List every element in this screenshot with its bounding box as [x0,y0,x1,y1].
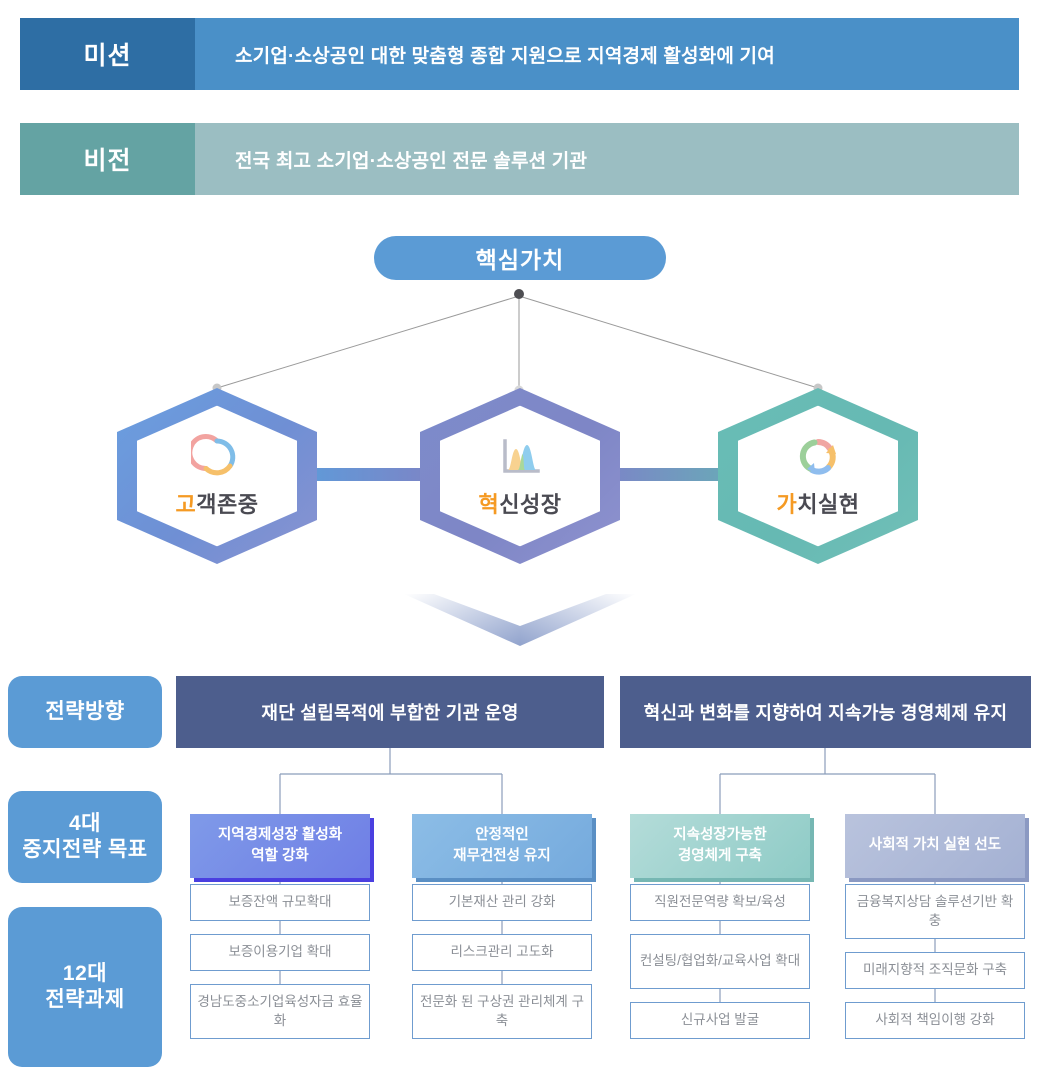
circular-arrows-icon [792,433,844,481]
mission-bar: 미션 소기업·소상공인 대한 맞춤형 종합 지원으로 지역경제 활성화에 기여 [20,18,1019,90]
hexagon-connector-bar-1 [305,468,427,481]
task-box[interactable]: 기본재산 관리 강화 [412,884,592,921]
goal-box-3[interactable]: 지속성장가능한경영체게 구축 [630,814,810,878]
hexagon-connector-bar-2 [608,468,730,481]
task-column-1: 보증잔액 규모확대 보증이용기업 확대 경남도중소기업육성자금 효율화 [190,884,370,1039]
goal-1-line1: 지역경제성장 활성화 [218,827,342,843]
task-box[interactable]: 금융복지상담 솔루션기반 확충 [845,884,1025,939]
core-value-hexagon-innovation-growth[interactable]: 혁신성장 [420,388,620,564]
core-value-accent-2: 혁 [479,492,500,517]
core-value-label-2: 혁신성장 [479,487,562,519]
twelve-tasks-label-line1: 12대 [63,962,107,985]
task-column-2: 기본재산 관리 강화 리스크관리 고도화 전문화 된 구상권 관리체계 구축 [412,884,592,1039]
goal-4-line1: 사회적 가치 실현 선도 [869,835,1001,856]
core-value-label-1: 고객존중 [176,487,259,519]
goal-2-line1: 안정적인 [475,827,528,843]
four-goals-label-line1: 4대 [69,812,101,835]
task-spacer [412,921,592,934]
vision-label: 비전 [20,123,195,195]
twelve-tasks-label-line2: 전략과제 [45,988,124,1011]
section-label-strategic-direction: 전략방향 [8,676,162,748]
down-arrow-icon [404,592,636,648]
task-box[interactable]: 경남도중소기업육성자금 효율화 [190,984,370,1039]
goal-3-line1: 지속성장가능한 [673,827,766,843]
mission-label: 미션 [20,18,195,90]
core-value-rest-3: 치실현 [797,492,859,517]
task-box[interactable]: 미래지향적 조직문화 구축 [845,952,1025,989]
goal-2-line2: 재무건전성 유지 [453,848,550,864]
bell-curve-chart-icon [494,433,546,481]
goal-3-line2: 경영체게 구축 [678,848,762,864]
task-column-3: 직원전문역량 확보/육성 컨설팅/협업화/교육사업 확대 신규사업 발굴 [630,884,810,1039]
section-label-four-goals: 4대 중지전략 목표 [8,791,162,883]
task-column-4: 금융복지상담 솔루션기반 확충 미래지향적 조직문화 구축 사회적 책임이행 강… [845,884,1025,1039]
goal-box-2[interactable]: 안정적인재무건전성 유지 [412,814,592,878]
section-label-twelve-tasks: 12대 전략과제 [8,907,162,1067]
task-spacer [630,921,810,934]
core-value-accent-1: 고 [176,492,197,517]
task-spacer [190,921,370,934]
task-spacer [845,939,1025,952]
core-value-rest-2: 신성장 [499,492,561,517]
vision-statement: 전국 최고 소기업·소상공인 전문 솔루션 기관 [195,123,1019,195]
task-spacer [630,989,810,1002]
task-spacer [190,971,370,984]
mission-statement: 소기업·소상공인 대한 맞춤형 종합 지원으로 지역경제 활성화에 기여 [195,18,1019,90]
core-value-hexagon-value-realization[interactable]: 가치실현 [718,388,918,564]
four-goals-label-line2: 중지전략 목표 [22,838,147,861]
strategic-direction-box-2: 혁신과 변화를 지향하여 지속가능 경영체제 유지 [620,676,1031,748]
task-box[interactable]: 보증잔액 규모확대 [190,884,370,921]
goal-1-line2: 역할 강화 [251,848,308,864]
task-box[interactable]: 신규사업 발굴 [630,1002,810,1039]
core-value-rest-1: 객존중 [196,492,258,517]
task-box[interactable]: 보증이용기업 확대 [190,934,370,971]
task-spacer [412,971,592,984]
strategic-direction-box-1: 재단 설립목적에 부합한 기관 운영 [176,676,604,748]
core-value-accent-3: 가 [777,492,798,517]
core-value-label-3: 가치실현 [777,487,860,519]
goal-box-1[interactable]: 지역경제성장 활성화역할 강화 [190,814,370,878]
task-spacer [845,989,1025,1002]
core-value-title: 핵심가치 [374,236,666,280]
task-box[interactable]: 리스크관리 고도화 [412,934,592,971]
arc-donut-icon [191,433,243,481]
task-box[interactable]: 컨설팅/협업화/교육사업 확대 [630,934,810,989]
core-value-hexagon-customer-respect[interactable]: 고객존중 [117,388,317,564]
goal-box-4[interactable]: 사회적 가치 실현 선도 [845,814,1025,878]
vision-bar: 비전 전국 최고 소기업·소상공인 전문 솔루션 기관 [20,123,1019,195]
task-box[interactable]: 전문화 된 구상권 관리체계 구축 [412,984,592,1039]
task-box[interactable]: 직원전문역량 확보/육성 [630,884,810,921]
task-box[interactable]: 사회적 책임이행 강화 [845,1002,1025,1039]
